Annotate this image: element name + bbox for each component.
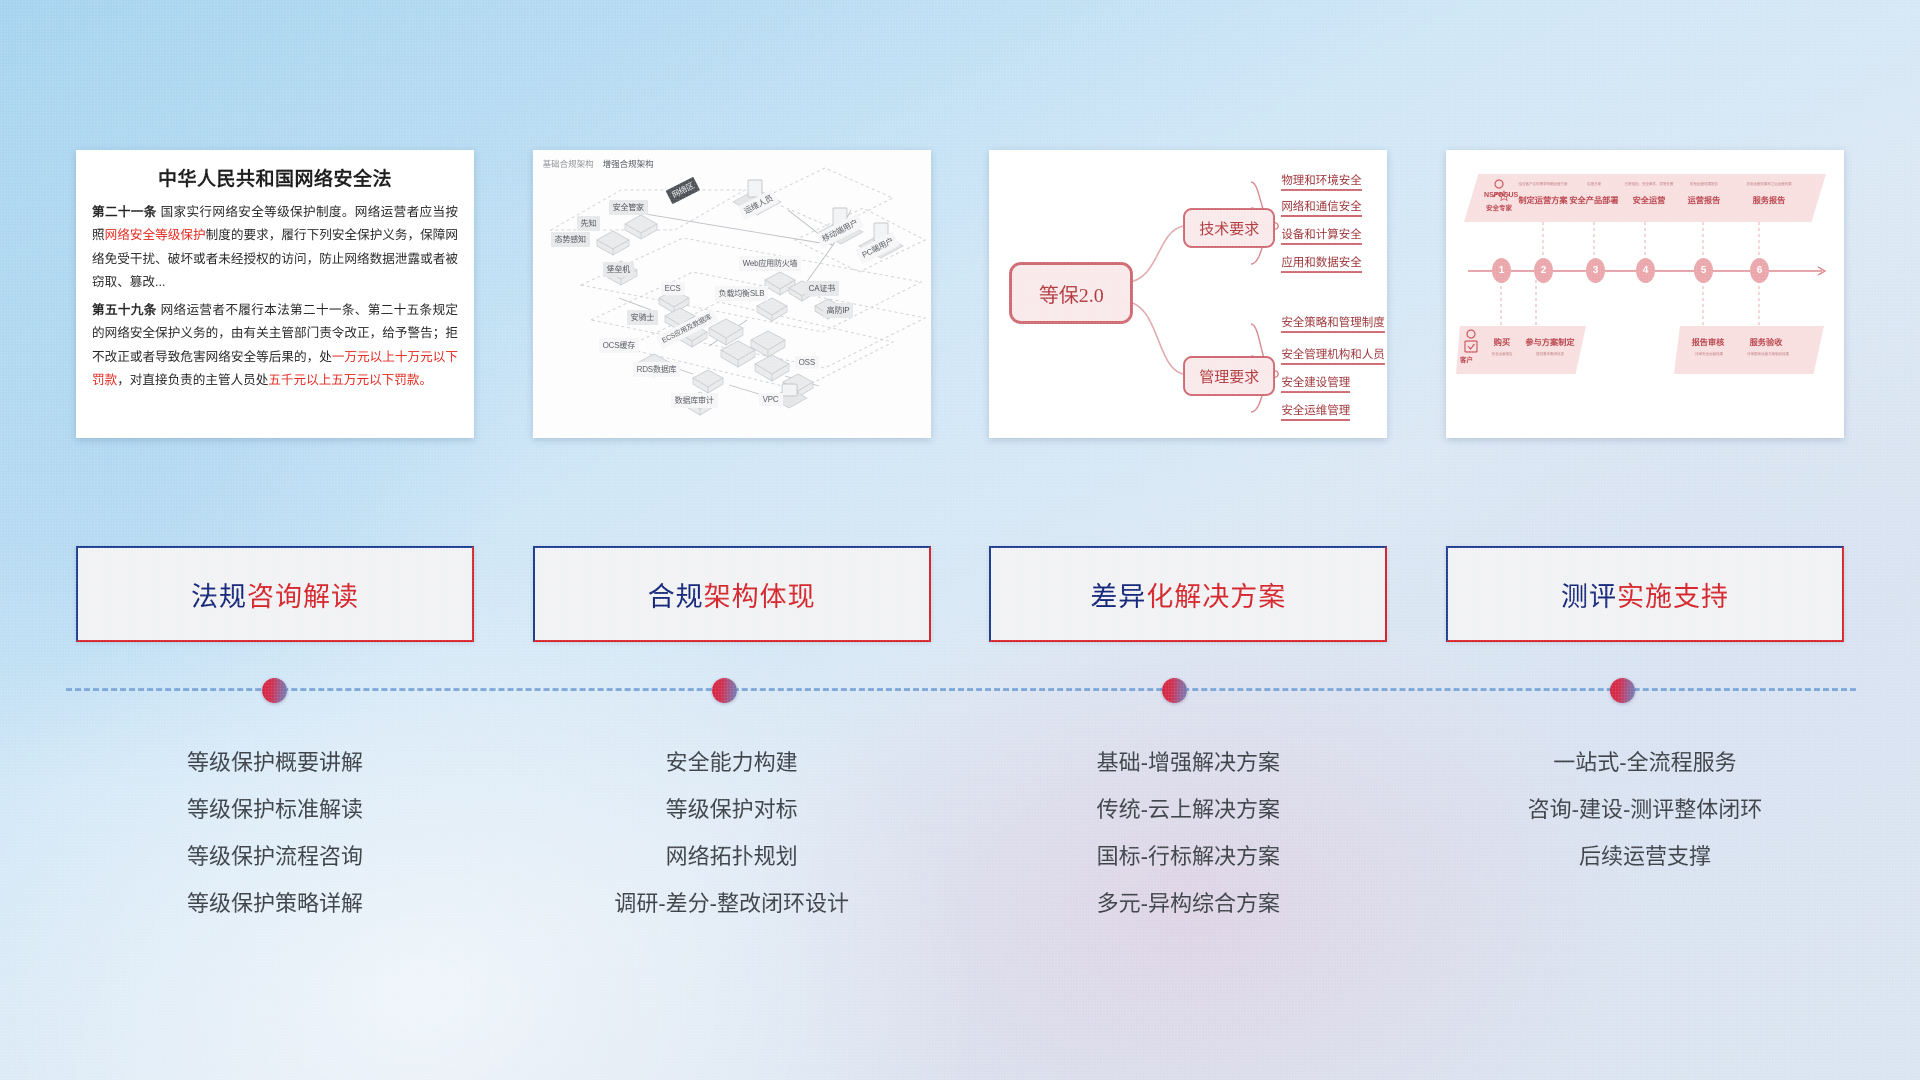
headline-red-differentiated: 化解决方案 — [1146, 582, 1286, 612]
mindmap-leaf-tech-1: 物理和环境安全 — [1281, 172, 1362, 191]
law-run-2-3: 五千元以上五万元以下罚款。 — [268, 373, 432, 387]
arch-node-ocs-cache: OCS缓存 — [599, 338, 639, 353]
arch-node-rds-db: RDS数据库 — [633, 362, 681, 377]
headline-text-architecture: 合规架构体现 — [648, 575, 816, 614]
arch-node-vpc: VPC — [759, 393, 783, 406]
nsfocus-step-marker-2[interactable]: 2 — [1534, 258, 1553, 283]
headline-box-architecture[interactable]: 合规架构体现 — [533, 546, 931, 642]
preview-card-law[interactable]: 中华人民共和国网络安全法 第二十一条 国家实行网络安全等级保护制度。网络运营者应… — [76, 150, 474, 438]
arch-node-waf: Web应用防火墙 — [739, 256, 802, 271]
nsfocus-step-marker-3[interactable]: 3 — [1586, 258, 1605, 283]
feature-list-row: 等级保护概要讲解 等级保护标准解读 等级保护流程咨询 等级保护策略详解 安全能力… — [76, 740, 1844, 928]
law-run-1-1: 网络安全等级保护 — [105, 228, 206, 242]
list-item: 等级保护策略详解 — [187, 881, 363, 928]
mindmap-leaf-mgmt-3: 安全建设管理 — [1281, 374, 1350, 393]
headline-red-regulation: 咨询解读 — [247, 582, 359, 612]
nsfocus-top-title-5: 运营报告 — [1672, 194, 1736, 206]
nsfocus-top-caption-5: 阶段运营效果报告 — [1672, 182, 1736, 187]
law-paragraph-1: 第二十一条 国家实行网络安全等级保护制度。网络运营者应当按照网络安全等级保护制度… — [92, 201, 458, 295]
list-item: 后续运营支撑 — [1579, 834, 1711, 881]
timeline-dot-3[interactable] — [1162, 678, 1187, 703]
nsfocus-step-marker-6[interactable]: 6 — [1750, 258, 1769, 283]
headline-blue-architecture: 合规 — [648, 582, 704, 612]
nsfocus-step-marker-4[interactable]: 4 — [1636, 258, 1655, 283]
nsfocus-bottom-caption-6: 评审整体运营方案验收效果 — [1732, 352, 1804, 357]
law-article-label-1: 第二十一条 — [92, 205, 157, 219]
nsfocus-brand-label: NSFOCUS — [1484, 192, 1518, 199]
law-paragraph-2: 第五十九条 网络运营者不履行本法第二十一条、第二十五条规定的网络安全保护义务的，… — [92, 299, 458, 393]
mindmap-leaf-mgmt-1: 安全策略和管理制度 — [1281, 314, 1385, 333]
nsfocus-top-caption-3: 实施方案 — [1564, 182, 1624, 187]
slide-canvas: 中华人民共和国网络安全法 第二十一条 国家实行网络安全等级保护制度。网络运营者应… — [0, 0, 1920, 1080]
list-item: 等级保护概要讲解 — [187, 740, 363, 787]
headline-blue-differentiated: 差异 — [1090, 582, 1146, 612]
headline-box-regulation[interactable]: 法规咨询解读 — [76, 546, 474, 642]
nsfocus-bottom-title-2: 参与方案制定 — [1518, 336, 1582, 348]
arch-node-oss: OSS — [795, 356, 819, 369]
nsfocus-step-marker-1[interactable]: 1 — [1492, 258, 1511, 283]
timeline-dashed-line — [66, 688, 1856, 695]
headline-blue-assessment: 测评 — [1561, 582, 1617, 612]
nsfocus-step-marker-5[interactable]: 5 — [1694, 258, 1713, 283]
list-item: 一站式-全流程服务 — [1553, 740, 1736, 787]
headline-blue-regulation: 法规 — [191, 582, 247, 612]
preview-card-row: 中华人民共和国网络安全法 第二十一条 国家实行网络安全等级保护制度。网络运营者应… — [76, 150, 1844, 438]
list-item: 等级保护标准解读 — [187, 787, 363, 834]
nsfocus-bottom-caption-2: 提供基本需求信息 — [1518, 352, 1582, 357]
preview-card-mindmap[interactable]: 等保2.0 技术要求 管理要求 物理和环境安全 网络和通信安全 设备和计算安全 … — [989, 150, 1387, 438]
nsfocus-customer-label: 客户 — [1460, 354, 1473, 364]
nsfocus-bottom-title-5: 报告审核 — [1680, 336, 1736, 348]
timeline-dot-1[interactable] — [262, 678, 287, 703]
list-item: 传统-云上解决方案 — [1097, 787, 1280, 834]
headline-red-architecture: 架构体现 — [704, 582, 816, 612]
list-item: 安全能力构建 — [666, 740, 798, 787]
mindmap-leaf-mgmt-2: 安全管理机构和人员 — [1281, 346, 1385, 365]
arch-node-slb: 负载均衡SLB — [715, 286, 769, 301]
arch-node-security-butler: 安全管家 — [609, 200, 648, 215]
list-item: 调研-差分-整改闭环设计 — [614, 881, 849, 928]
headline-box-row: 法规咨询解读 合规架构体现 差异化解决方案 测评实施支持 — [76, 546, 1844, 642]
headline-red-assessment: 实施支持 — [1617, 582, 1729, 612]
feature-list-architecture: 安全能力构建 等级保护对标 网络拓扑规划 调研-差分-整改闭环设计 — [533, 740, 931, 928]
law-title: 中华人民共和国网络安全法 — [92, 164, 458, 191]
list-item: 等级保护对标 — [666, 787, 798, 834]
mindmap-branch-management[interactable]: 管理要求 — [1183, 356, 1275, 396]
headline-text-regulation: 法规咨询解读 — [191, 575, 359, 614]
headline-text-assessment: 测评实施支持 — [1561, 575, 1729, 614]
list-item: 国标-行标解决方案 — [1097, 834, 1280, 881]
nsfocus-top-caption-6: 总体运营效果和之后运营效果 — [1732, 182, 1806, 187]
nsfocus-bottom-title-6: 服务验收 — [1738, 336, 1794, 348]
headline-box-differentiated[interactable]: 差异化解决方案 — [989, 546, 1387, 642]
arch-node-xianzhi: 先知 — [577, 216, 601, 231]
law-run-2-2: ，对直接负责的主管人员处 — [117, 373, 268, 387]
arch-node-anqishi: 安骑士 — [627, 310, 658, 325]
nsfocus-top-title-6: 服务报告 — [1732, 194, 1806, 206]
list-item: 等级保护流程咨询 — [187, 834, 363, 881]
list-item: 多元-异构综合方案 — [1097, 881, 1280, 928]
mindmap-leaf-tech-2: 网络和通信安全 — [1281, 198, 1362, 217]
feature-list-regulation: 等级保护概要讲解 等级保护标准解读 等级保护流程咨询 等级保护策略详解 — [76, 740, 474, 928]
arch-node-bastion-host: 堡垒机 — [603, 262, 634, 277]
timeline-dot-2[interactable] — [712, 678, 737, 703]
nsfocus-top-title-3: 安全产品部署 — [1564, 194, 1624, 206]
mindmap-branch-technical[interactable]: 技术要求 — [1183, 208, 1275, 248]
mindmap-leaf-tech-4: 应用和数据安全 — [1281, 254, 1362, 273]
list-item: 网络拓扑规划 — [666, 834, 798, 881]
arch-node-ecs: ECS — [661, 282, 685, 295]
headline-box-assessment[interactable]: 测评实施支持 — [1446, 546, 1844, 642]
arch-node-anti-ddos-ip: 高防IP — [823, 303, 854, 318]
preview-card-nsfocus-timeline[interactable]: 结合客户实际需求明确运营方案 制定运营方案 实施方案 安全产品部署 日常巡检、安… — [1446, 150, 1844, 438]
headline-text-differentiated: 差异化解决方案 — [1090, 575, 1286, 614]
list-item: 基础-增强解决方案 — [1097, 740, 1280, 787]
timeline-dot-4[interactable] — [1610, 678, 1635, 703]
nsfocus-expert-label: 安全专家 — [1486, 202, 1512, 212]
mindmap-leaf-tech-3: 设备和计算安全 — [1281, 226, 1362, 245]
arch-node-ca-cert: CA证书 — [805, 281, 839, 296]
feature-list-differentiated: 基础-增强解决方案 传统-云上解决方案 国标-行标解决方案 多元-异构综合方案 — [989, 740, 1387, 928]
list-item: 咨询-建设-测评整体闭环 — [1528, 787, 1763, 834]
feature-list-assessment: 一站式-全流程服务 咨询-建设-测评整体闭环 后续运营支撑 — [1446, 740, 1844, 928]
mindmap-leaf-mgmt-4: 安全运维管理 — [1281, 402, 1350, 421]
arch-node-situational-awareness: 态势感知 — [551, 232, 590, 247]
preview-card-architecture[interactable]: 基础合规架构 增强合规架构 — [533, 150, 931, 438]
mindmap-root-node[interactable]: 等保2.0 — [1009, 262, 1133, 324]
arch-node-db-audit: 数据库审计 — [671, 393, 718, 408]
law-article-label-2: 第五十九条 — [92, 303, 157, 317]
